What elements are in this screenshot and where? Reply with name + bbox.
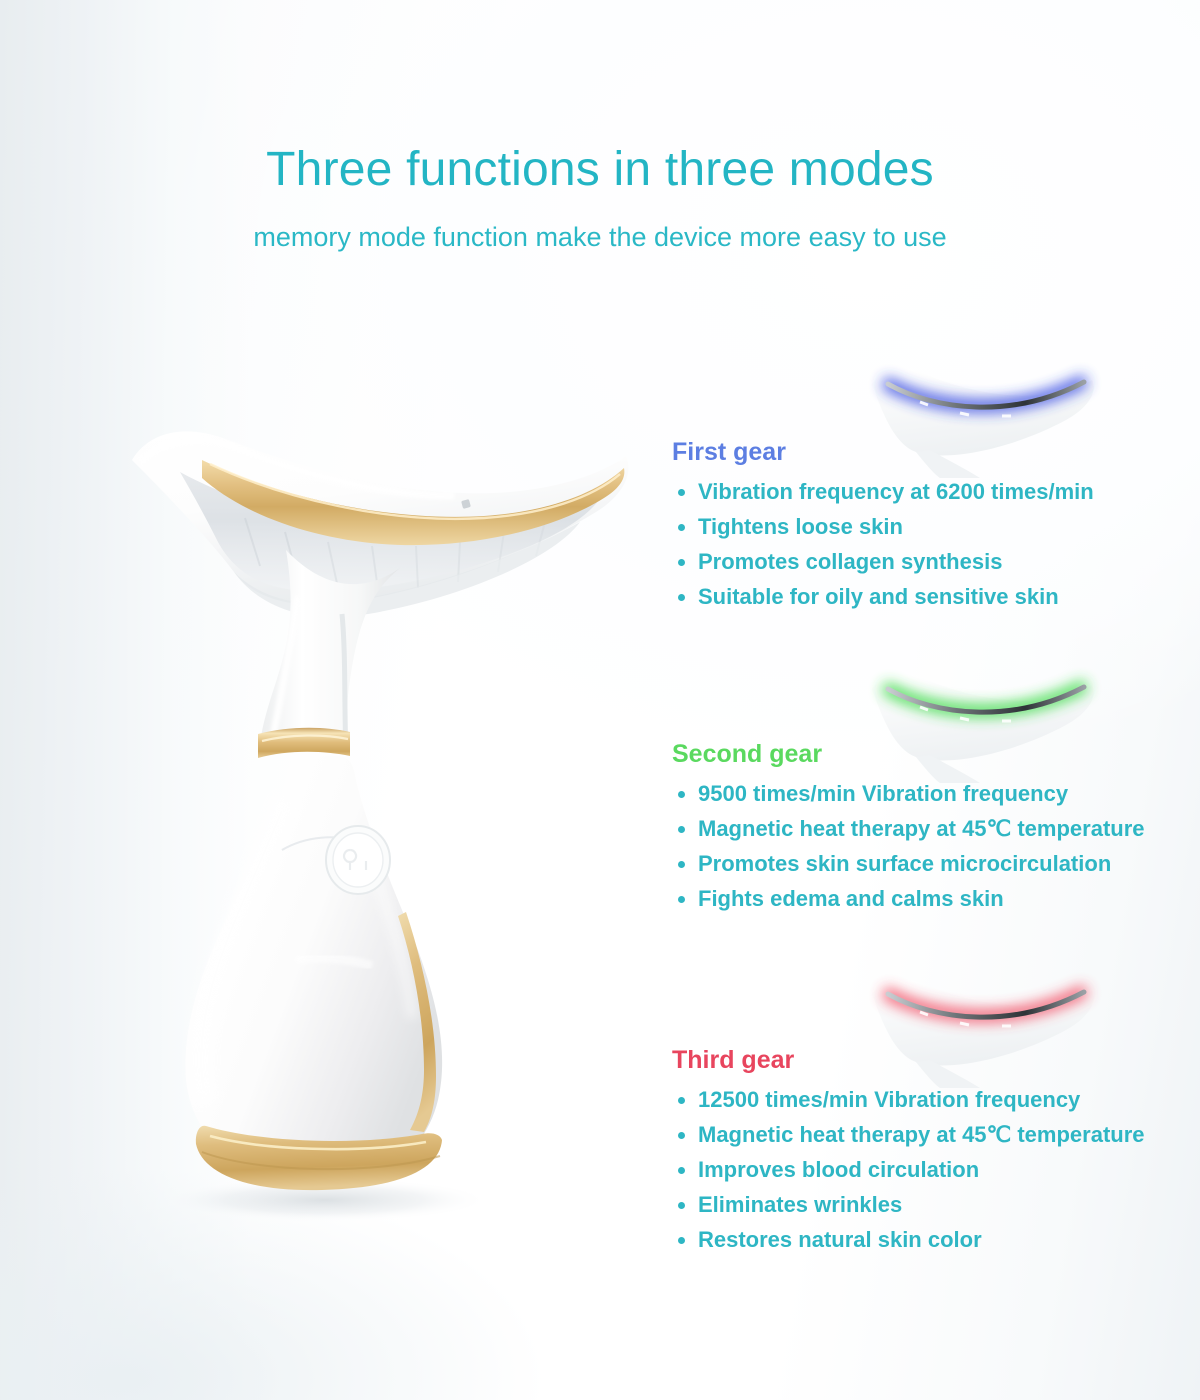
bullet-dot: [678, 1237, 685, 1244]
list-item: Fights edema and calms skin: [672, 888, 1145, 910]
bullet-dot: [678, 791, 685, 798]
list-item: Restores natural skin color: [672, 1229, 1145, 1251]
list-item-label: Magnetic heat therapy at 45℃ temperature: [698, 1124, 1145, 1146]
bullet-dot: [678, 559, 685, 566]
list-item-label: Eliminates wrinkles: [698, 1194, 902, 1216]
bullet-dot: [678, 1132, 685, 1139]
list-item-label: 9500 times/min Vibration frequency: [698, 783, 1068, 805]
bullet-dot: [678, 1202, 685, 1209]
list-item: Vibration frequency at 6200 times/min: [672, 481, 1094, 503]
first-gear-bullet-list: Vibration frequency at 6200 times/min Ti…: [672, 481, 1094, 608]
bullet-dot: [678, 524, 685, 531]
device-gold-ring: [258, 728, 350, 758]
page-subtitle: memory mode function make the device mor…: [0, 224, 1200, 251]
bullet-dot: [678, 489, 685, 496]
list-item-label: Improves blood circulation: [698, 1159, 979, 1181]
header: Three functions in three modes memory mo…: [0, 146, 1200, 251]
list-item-label: Promotes skin surface microcirculation: [698, 853, 1111, 875]
bullet-dot: [678, 594, 685, 601]
third-gear-section: Third gear 12500 times/min Vibration fre…: [672, 1048, 1145, 1264]
list-item-label: Tightens loose skin: [698, 516, 903, 538]
list-item: Magnetic heat therapy at 45℃ temperature: [672, 818, 1145, 840]
list-item-label: Vibration frequency at 6200 times/min: [698, 481, 1094, 503]
bullet-dot: [678, 896, 685, 903]
list-item: Improves blood circulation: [672, 1159, 1145, 1181]
list-item-label: Suitable for oily and sensitive skin: [698, 586, 1059, 608]
list-item: 12500 times/min Vibration frequency: [672, 1089, 1145, 1111]
second-gear-section: Second gear 9500 times/min Vibration fre…: [672, 742, 1145, 923]
list-item-label: Promotes collagen synthesis: [698, 551, 1002, 573]
first-gear-section: First gear Vibration frequency at 6200 t…: [672, 440, 1094, 621]
list-item: Tightens loose skin: [672, 516, 1094, 538]
list-item-label: Fights edema and calms skin: [698, 888, 1004, 910]
third-gear-bullet-list: 12500 times/min Vibration frequency Magn…: [672, 1089, 1145, 1251]
list-item-label: Restores natural skin color: [698, 1229, 982, 1251]
first-gear-heading: First gear: [672, 440, 1094, 465]
bullet-dot: [678, 1167, 685, 1174]
second-gear-bullet-list: 9500 times/min Vibration frequency Magne…: [672, 783, 1145, 910]
bullet-dot: [678, 861, 685, 868]
list-item: Eliminates wrinkles: [672, 1194, 1145, 1216]
power-button[interactable]: [326, 826, 390, 894]
product-image: [110, 400, 650, 1230]
second-gear-heading: Second gear: [672, 742, 1145, 767]
list-item: 9500 times/min Vibration frequency: [672, 783, 1145, 805]
list-item-label: Magnetic heat therapy at 45℃ temperature: [698, 818, 1145, 840]
third-gear-heading: Third gear: [672, 1048, 1145, 1073]
list-item: Magnetic heat therapy at 45℃ temperature: [672, 1124, 1145, 1146]
list-item-label: 12500 times/min Vibration frequency: [698, 1089, 1080, 1111]
bullet-dot: [678, 826, 685, 833]
infographic-page: Three functions in three modes memory mo…: [0, 0, 1200, 1400]
list-item: Promotes collagen synthesis: [672, 551, 1094, 573]
page-title: Three functions in three modes: [0, 146, 1200, 194]
list-item: Promotes skin surface microcirculation: [672, 853, 1145, 875]
list-item: Suitable for oily and sensitive skin: [672, 586, 1094, 608]
bullet-dot: [678, 1097, 685, 1104]
